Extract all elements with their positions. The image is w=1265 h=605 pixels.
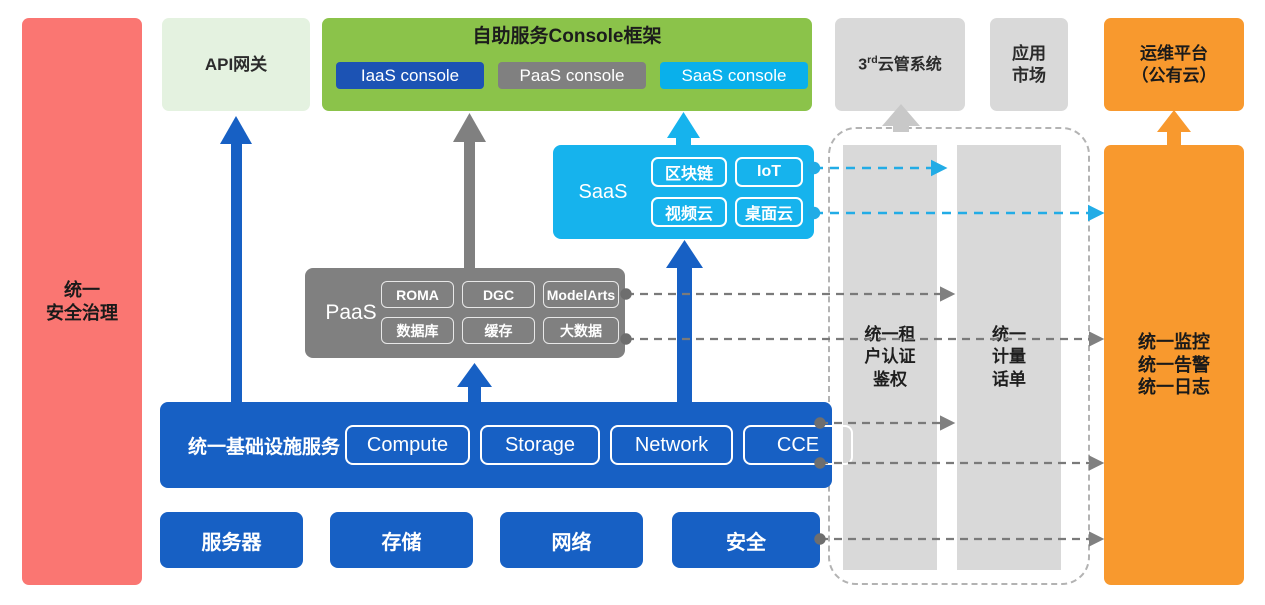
architecture-diagram: 统一 安全治理 API网关 自助服务Console框架 IaaS console…: [0, 0, 1265, 605]
arrow-infra-to-paas: [457, 363, 492, 402]
ops-platform-public-cloud-box: 运维平台 （公有云）: [1104, 18, 1244, 111]
saas-chip-iot[interactable]: IoT: [735, 157, 803, 187]
paas-console-chip[interactable]: PaaS console: [498, 62, 646, 89]
console-frame-title: 自助服务Console框架: [322, 25, 812, 49]
third-party-cloud-management-label: 3rd云管系统: [858, 54, 941, 75]
bottom-box-security[interactable]: 安全: [672, 512, 820, 568]
unified-metering-column: 统一 计量 话单: [957, 145, 1061, 570]
arrow-paas-to-console: [453, 113, 486, 268]
infra-chip-network[interactable]: Network: [610, 425, 733, 465]
bottom-box-server[interactable]: 服务器: [160, 512, 303, 568]
paas-chip-database[interactable]: 数据库: [381, 317, 454, 344]
unified-infrastructure-service-bar: 统一基础设施服务 Compute Storage Network CCE: [160, 402, 832, 488]
third-party-prefix: 3: [858, 56, 867, 73]
third-party-superscript: rd: [867, 54, 878, 66]
infra-chip-compute[interactable]: Compute: [345, 425, 470, 465]
arrow-saas-to-console: [667, 112, 700, 146]
saas-chip-desktop-cloud[interactable]: 桌面云: [735, 197, 803, 227]
app-market-box: 应用 市场: [990, 18, 1068, 111]
saas-chip-blockchain[interactable]: 区块链: [651, 157, 727, 187]
unified-infrastructure-service-label: 统一基础设施服务: [174, 402, 354, 488]
iaas-console-chip[interactable]: IaaS console: [336, 62, 484, 89]
infra-chip-storage[interactable]: Storage: [480, 425, 600, 465]
saas-box: SaaS 区块链 IoT 视频云 桌面云: [553, 145, 814, 239]
bottom-box-storage[interactable]: 存储: [330, 512, 473, 568]
arrow-ops-column-to-ops-top: [1157, 110, 1191, 148]
third-party-cloud-management-box: 3rd云管系统: [835, 18, 965, 111]
paas-box: PaaS ROMA DGC ModelArts 数据库 缓存 大数据: [305, 268, 625, 358]
paas-chip-roma[interactable]: ROMA: [381, 281, 454, 308]
paas-chip-modelarts[interactable]: ModelArts: [543, 281, 619, 308]
unified-tenant-auth-column: 统一租 户认证 鉴权: [843, 145, 937, 570]
saas-console-chip[interactable]: SaaS console: [660, 62, 808, 89]
api-gateway-box: API网关: [162, 18, 310, 111]
paas-chip-big-data[interactable]: 大数据: [543, 317, 619, 344]
paas-chip-cache[interactable]: 缓存: [462, 317, 535, 344]
unified-monitoring-column: 统一监控 统一告警 统一日志: [1104, 145, 1244, 585]
security-governance-column: 统一 安全治理: [22, 18, 142, 585]
third-party-rest: 云管系统: [878, 56, 942, 73]
paas-label: PaaS: [311, 268, 391, 358]
saas-chip-video-cloud[interactable]: 视频云: [651, 197, 727, 227]
self-service-console-frame: 自助服务Console框架 IaaS console PaaS console …: [322, 18, 812, 111]
infra-chip-cce[interactable]: CCE: [743, 425, 853, 465]
arrow-infra-to-saas: [666, 240, 703, 402]
arrow-infra-to-api-gateway: [220, 116, 252, 402]
saas-label: SaaS: [563, 145, 643, 239]
bottom-box-network[interactable]: 网络: [500, 512, 643, 568]
paas-chip-dgc[interactable]: DGC: [462, 281, 535, 308]
